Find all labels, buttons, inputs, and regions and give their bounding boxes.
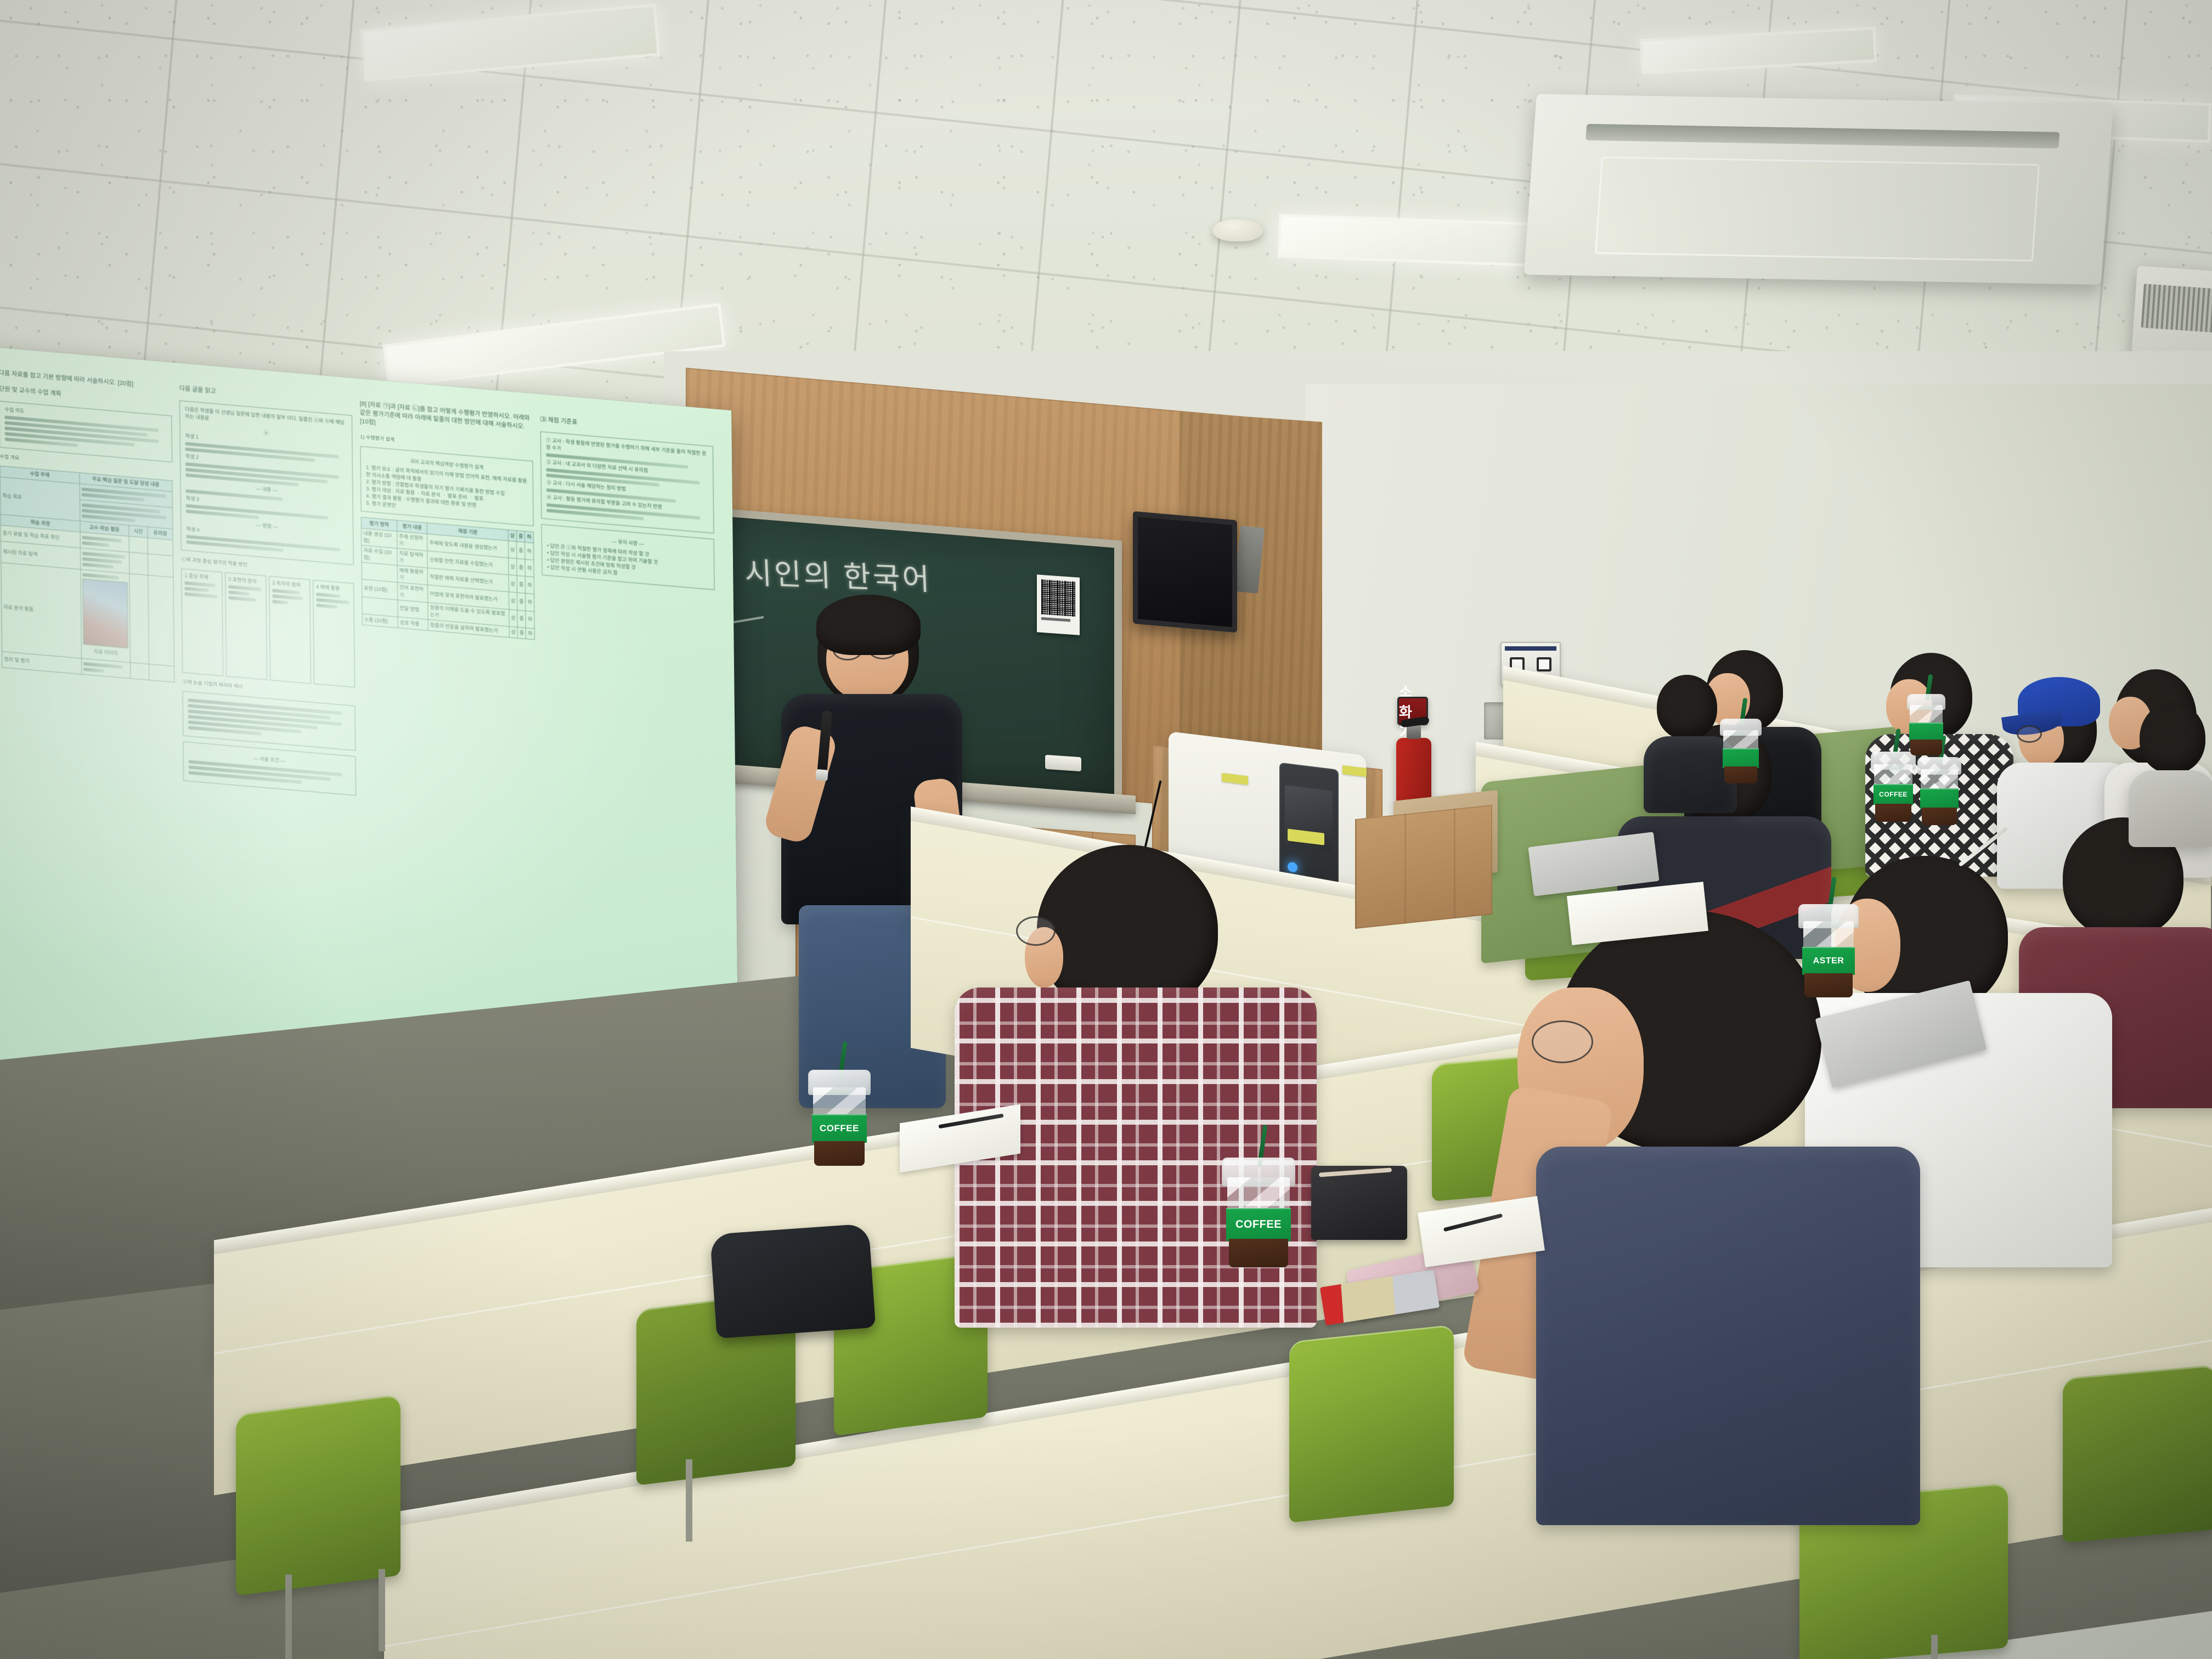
cell: 상 <box>509 592 517 610</box>
cup-body <box>814 1141 865 1166</box>
cell: 하 <box>526 594 534 611</box>
slide-figure-caption: 자료 이미지 <box>83 647 128 658</box>
outlet-socket[interactable] <box>1537 657 1552 672</box>
cup-body <box>1910 740 1942 755</box>
cell: 중 <box>517 593 526 611</box>
chair-leg <box>285 1575 292 1659</box>
chair-leg <box>686 1459 692 1542</box>
mini-cell: 3 독자의 참여 <box>269 576 311 684</box>
cell: 중 <box>517 627 526 639</box>
slide-figure-image <box>82 579 128 648</box>
cup-sleeve <box>1723 748 1759 768</box>
cell: 중 <box>517 610 526 628</box>
cell: 상 <box>509 627 517 638</box>
slide-column-1: 다음 자료를 참고 기본 방향에 따라 서술하시오. [20점] 단원 및 교수… <box>0 369 178 1026</box>
attendee-top <box>2129 770 2212 847</box>
slide-col1-intent-box: 수업 의도 <box>0 401 172 462</box>
extinguisher-neck <box>1407 725 1421 739</box>
microphone-capsule <box>815 769 828 781</box>
pencil-case[interactable] <box>1311 1166 1407 1240</box>
cup-body <box>1724 766 1758 783</box>
cup-sleeve <box>1909 723 1943 741</box>
fire-extinguisher[interactable] <box>1396 738 1431 804</box>
slide-column-3: [8] [자료 ㉠]과 [자료 ㉡]를 참고 어떻게 수행평가 반영하시오. 아… <box>360 400 539 1057</box>
attendee-glasses <box>1016 916 1056 946</box>
ac-vent <box>1585 124 2059 149</box>
cell: 상호 작용 <box>398 617 428 630</box>
slide-col1-table: 수업 주제 주요 핵심 질문 및 도달 당성 내용 학습 목표 학습 과정 교수… <box>0 466 174 682</box>
lectern-asset-label <box>1342 765 1367 777</box>
mini-cell: 4 매체 활용 <box>313 580 355 688</box>
smoke-detector-icon <box>1212 219 1263 241</box>
cell <box>148 554 173 577</box>
cup-body <box>1804 973 1853 997</box>
cell: 하 <box>526 611 534 628</box>
mini-cell: 1 중심 주제 <box>181 569 223 677</box>
mini-header: 2 표현의 방식 <box>228 576 263 586</box>
attendee-head <box>1657 675 1717 740</box>
cup-body <box>1922 808 1957 825</box>
iced-coffee-cup[interactable]: ASTER <box>1802 904 1855 997</box>
slide-column-2: 다음 글을 읽고 다음은 학생들 이 선생님 질문에 답한 내용의 일부 이다.… <box>179 385 359 1042</box>
cell: 자료 이미지 <box>80 569 130 663</box>
mini-header: 1 중심 주제 <box>184 572 219 582</box>
wall-monitor <box>1133 511 1237 633</box>
chair[interactable] <box>2063 1365 2212 1543</box>
chalkboard-handwriting: 시인의 한국어 <box>743 549 932 599</box>
projector-grille <box>2141 284 2212 333</box>
chalkboard-eraser[interactable] <box>1045 755 1081 772</box>
cell <box>129 573 149 664</box>
chair-leg <box>1931 1635 1938 1659</box>
cell: 중 <box>517 558 526 576</box>
qr-code-card[interactable] <box>1037 574 1080 635</box>
slide-col4-caution-box: — 유의 사항 — • 답안 은 ⓒ와 적절한 평가 항목에 따라 작성 할 것… <box>541 524 715 590</box>
row-label: 학습 목표 <box>0 477 80 521</box>
chair[interactable] <box>236 1395 400 1596</box>
cell: 하 <box>525 543 534 560</box>
cup-sleeve: COFFEE <box>812 1114 867 1143</box>
cell <box>148 538 173 556</box>
lectern-asset-label <box>1222 773 1248 785</box>
cell: 하 <box>526 628 535 639</box>
cell: 상 <box>509 609 518 627</box>
mini-header: 3 독자의 참여 <box>272 580 307 590</box>
plate-header-bar <box>1505 646 1556 651</box>
qr-card-caption <box>1041 617 1070 622</box>
cell: 주제 선정하기 <box>397 532 428 551</box>
cell: 하 <box>526 577 534 594</box>
iced-coffee-cup[interactable] <box>1909 694 1943 755</box>
mini-cell: 2 표현의 방식 <box>225 572 267 680</box>
lecture-hall-photo: 시인의 한국어 소화기 12 11 10 8 7 <box>0 0 2212 1659</box>
cell: 전달 방법 <box>398 600 428 619</box>
cell <box>129 552 148 575</box>
projected-slide: 다음 자료를 참고 기본 방향에 따라 서술하시오. [20점] 단원 및 교수… <box>0 368 727 1073</box>
cell: 중 <box>517 541 526 559</box>
attendee-tshirt <box>1536 1147 1920 1525</box>
iced-coffee-cup[interactable] <box>1920 757 1959 825</box>
cup-sleeve: COFFEE <box>1226 1208 1291 1241</box>
iced-coffee-cup[interactable]: COFFEE <box>812 1070 867 1166</box>
col-header: 상 <box>508 530 516 541</box>
attendee-glasses <box>2017 725 2042 743</box>
cell <box>131 663 149 680</box>
cup-sleeve: COFFEE <box>1874 784 1913 805</box>
col-header: 하 <box>525 532 534 543</box>
cell: 언어 표현하기 <box>398 583 428 602</box>
qr-code-icon <box>1041 579 1075 617</box>
row-label: 자료 분석 활동 <box>1 562 81 658</box>
cell <box>129 536 148 554</box>
attendee-glasses <box>1532 1020 1593 1063</box>
attendee-head <box>2140 702 2205 774</box>
cup-sleeve: ASTER <box>1802 947 1855 975</box>
attendee-far-right <box>2129 702 2212 834</box>
slide-col2-note-box <box>183 691 356 751</box>
cell <box>149 664 174 682</box>
slide-col2-mini-table: 1 중심 주제 2 표현의 방식 3 독자의 참여 4 매체 활용 <box>181 569 355 688</box>
slide-col2-condition-box: — 서술 조건 — <box>183 742 356 795</box>
slide-col2-box: 다음은 학생들 이 선생님 질문에 답한 내용의 일부 이다. 밑줄친 ⓐ와 ⓑ… <box>179 400 353 566</box>
cell: 상 <box>508 541 517 558</box>
pouch-zipper <box>1319 1167 1392 1177</box>
cell: 상 <box>509 575 517 592</box>
slide-col3-design-box: 국어 교과의 핵심역량 수행평가 설계 1. 평가 요소 : 글의 목적에서의 … <box>360 446 534 526</box>
presenter-hair <box>816 595 921 655</box>
iced-coffee-cup[interactable]: COFFEE <box>1874 752 1913 822</box>
slide-column-4: ⑶ 채점 기준표 ① 교사 : 학생 활동에 반영된 평가를 수행하기 위해 세… <box>540 415 720 1073</box>
cell: 중 <box>517 576 526 594</box>
cup-body <box>1875 804 1911 822</box>
cell: 상 <box>509 558 517 575</box>
slide-col4-notes-box: ① 교사 : 학생 활동에 반영된 평가를 수행하기 위해 세부 기준을 둘러 … <box>540 431 714 533</box>
slide-col3-rubric-table: 평가 영역 평가 내용 채점 기준 상 중 하 내용 생성 (10점) 주제 선… <box>361 517 535 640</box>
cell: 하 <box>525 560 534 577</box>
ac-face-panel <box>1595 156 2040 262</box>
col-header: 중 <box>517 531 525 542</box>
cell: 소통 (10점) <box>362 614 398 628</box>
chair-leg <box>379 1569 385 1651</box>
iced-coffee-cup[interactable] <box>1723 719 1759 783</box>
mini-header: 4 매체 활용 <box>316 584 351 594</box>
slide-col3-heading: [8] [자료 ㉠]과 [자료 ㉡]를 참고 어떻게 수행평가 반영하시오. 아… <box>360 400 533 441</box>
iced-coffee-cup[interactable]: COFFEE <box>1226 1158 1291 1267</box>
cell <box>148 575 174 666</box>
backpack[interactable] <box>710 1223 876 1339</box>
cell: 매체 활용하기 <box>397 566 428 585</box>
cup-body <box>1229 1239 1289 1267</box>
cell: 자료 탐색하기 <box>397 549 428 568</box>
cup-sleeve <box>1920 788 1959 809</box>
ceiling-air-conditioner <box>1524 94 2113 285</box>
